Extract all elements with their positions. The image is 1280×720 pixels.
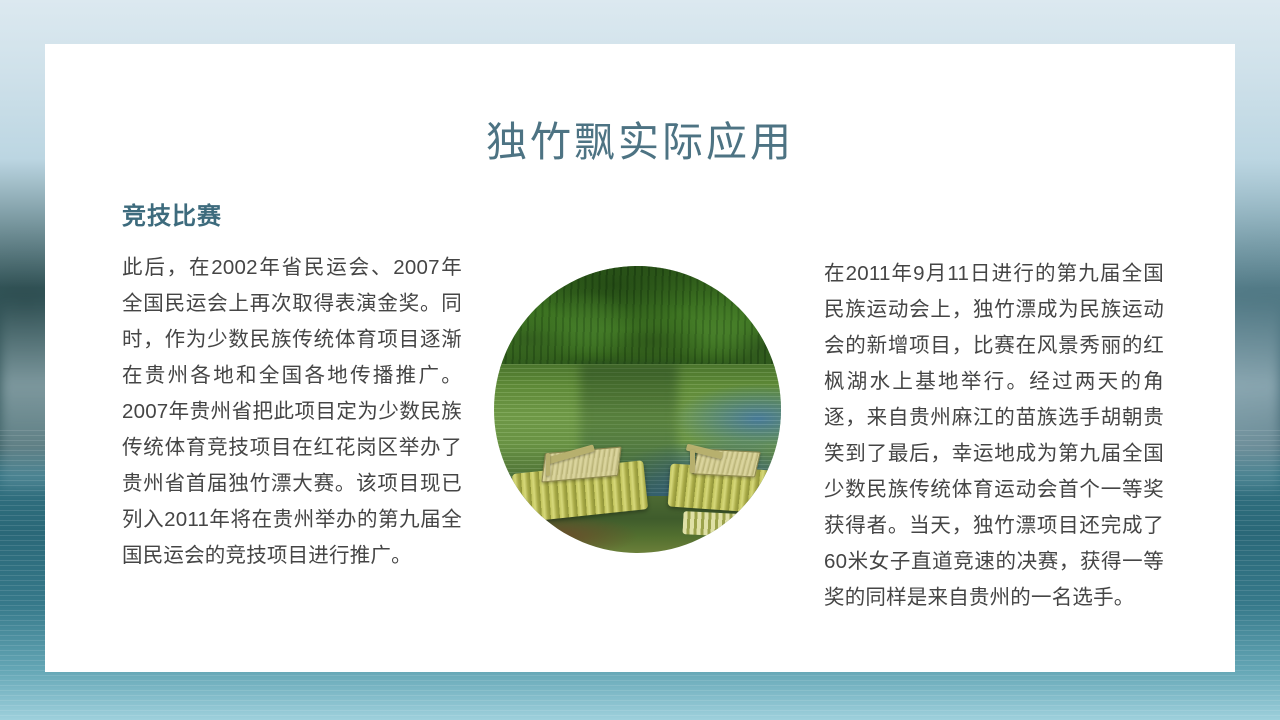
right-text-column: 在2011年9月11日进行的第九届全国民族运动会上，独竹漂成为民族运动会的新增项… <box>824 256 1164 616</box>
left-paragraph: 此后，在2002年省民运会、2007年全国民运会上再次取得表演金奖。同时，作为少… <box>122 250 462 574</box>
right-paragraph: 在2011年9月11日进行的第九届全国民族运动会上，独竹漂成为民族运动会的新增项… <box>824 256 1164 616</box>
forest-canopy <box>494 266 781 369</box>
raft-rail-post-right <box>690 450 695 473</box>
photo-scene <box>494 266 781 553</box>
slide-content-card: 独竹飘实际应用 竞技比赛 此后，在2002年省民运会、2007年全国民运会上再次… <box>45 44 1235 672</box>
left-text-column: 竞技比赛 此后，在2002年省民运会、2007年全国民运会上再次取得表演金奖。同… <box>122 196 462 574</box>
bamboo-pole-ends <box>683 511 759 538</box>
section-heading: 竞技比赛 <box>122 196 462 231</box>
raft-rail-post-left <box>546 453 551 476</box>
page-title: 独竹飘实际应用 <box>45 108 1235 168</box>
circular-photo <box>494 266 781 553</box>
